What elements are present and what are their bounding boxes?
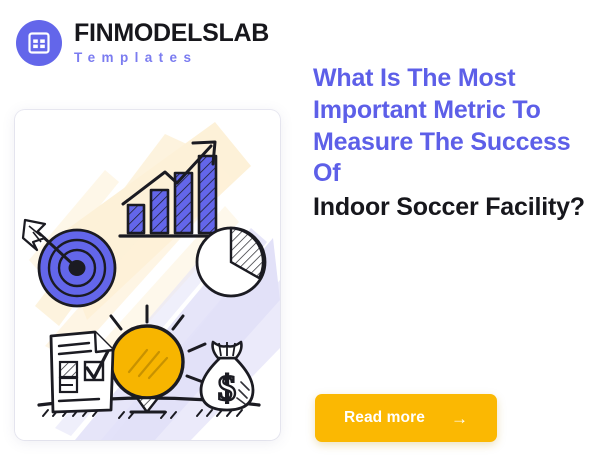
pie-chart-icon	[197, 228, 265, 296]
coin-sun-icon	[111, 326, 183, 398]
grid-squares-icon	[16, 20, 62, 66]
read-more-label: Read more	[344, 409, 425, 427]
brand-wordmark: FINMODELSLAB	[74, 21, 269, 46]
brand-text: FINMODELSLAB Templates	[74, 21, 269, 65]
svg-text:$: $	[218, 368, 236, 408]
promo-banner: FINMODELSLAB Templates	[0, 0, 600, 464]
arrow-right-icon: →	[451, 410, 468, 427]
business-metrics-illustration: $	[15, 110, 280, 440]
brand-tagline: Templates	[74, 51, 269, 65]
page-subtitle: Indoor Soccer Facility?	[313, 192, 593, 224]
read-more-button[interactable]: Read more →	[315, 394, 497, 442]
checklist-document-icon	[51, 332, 113, 412]
illustration-card: $	[15, 110, 280, 440]
brand-logo[interactable]: FINMODELSLAB Templates	[16, 20, 269, 66]
page-title: What Is The Most Important Metric To Mea…	[313, 63, 593, 190]
